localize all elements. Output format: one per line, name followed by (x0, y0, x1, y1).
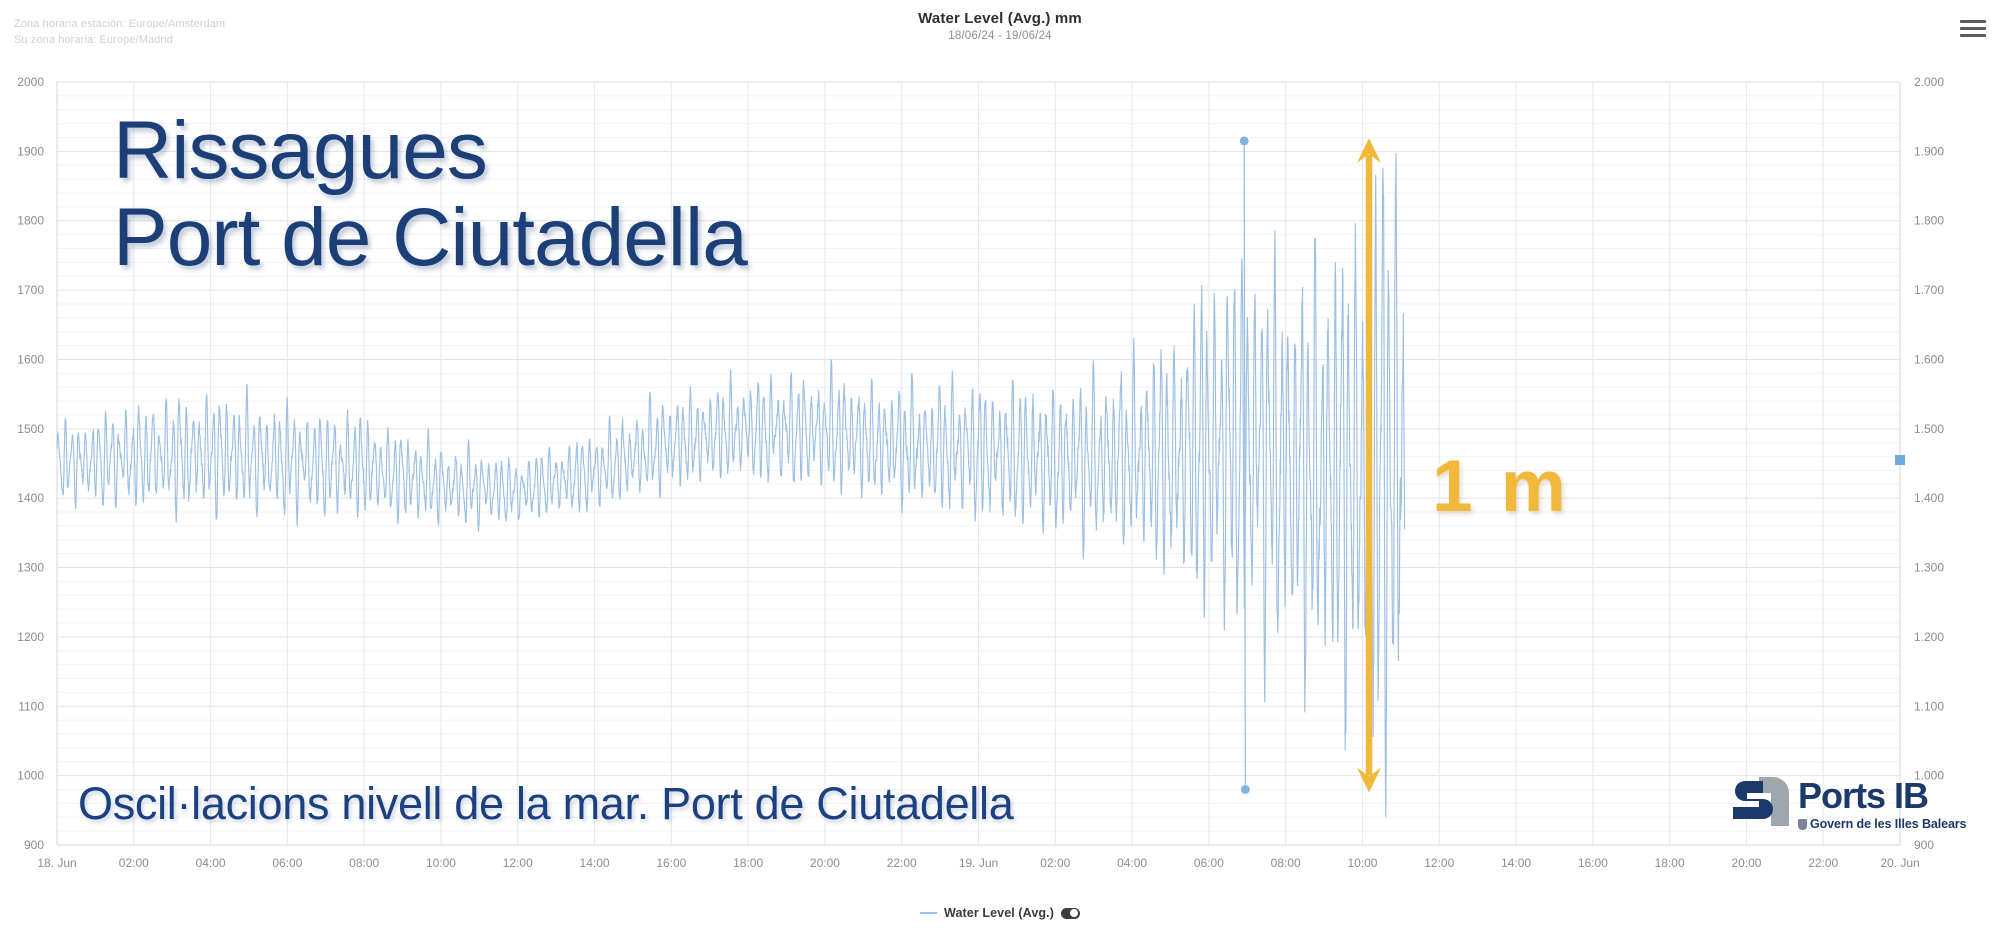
svg-text:16:00: 16:00 (656, 856, 686, 870)
svg-text:14:00: 14:00 (580, 856, 610, 870)
svg-text:1.600: 1.600 (1914, 352, 1944, 366)
svg-text:16:00: 16:00 (1578, 856, 1608, 870)
last-reading-marker[interactable] (1895, 455, 1905, 465)
svg-text:1.700: 1.700 (1914, 283, 1944, 297)
svg-text:10:00: 10:00 (426, 856, 456, 870)
svg-text:08:00: 08:00 (349, 856, 379, 870)
svg-text:06:00: 06:00 (272, 856, 302, 870)
svg-text:19. Jun: 19. Jun (959, 856, 998, 870)
legend-line-swatch (920, 912, 937, 914)
overlay-heading-line1: Rissagues (113, 105, 487, 196)
svg-text:22:00: 22:00 (887, 856, 917, 870)
chart-legend[interactable]: Water Level (Avg.) (0, 906, 2000, 920)
svg-text:1800: 1800 (17, 214, 44, 228)
ports-ib-logo-text: Ports IB Govern de les Illes Balears (1798, 777, 1966, 831)
ports-ib-logo: Ports IB Govern de les Illes Balears (1733, 777, 1966, 831)
ports-ib-name: Ports IB (1798, 778, 1966, 814)
svg-text:900: 900 (24, 838, 44, 852)
svg-text:18. Jun: 18. Jun (37, 856, 76, 870)
max-value-marker[interactable] (1240, 137, 1249, 146)
svg-text:1000: 1000 (17, 769, 44, 783)
svg-text:1.500: 1.500 (1914, 422, 1944, 436)
svg-text:18:00: 18:00 (1655, 856, 1685, 870)
svg-text:1100: 1100 (18, 699, 44, 713)
svg-text:20. Jun: 20. Jun (1880, 856, 1919, 870)
svg-text:1.400: 1.400 (1914, 491, 1944, 505)
svg-text:06:00: 06:00 (1194, 856, 1224, 870)
legend-series-label[interactable]: Water Level (Avg.) (944, 906, 1054, 920)
svg-text:20:00: 20:00 (1731, 856, 1761, 870)
legend-toggle-switch[interactable] (1061, 908, 1080, 919)
svg-text:02:00: 02:00 (119, 856, 149, 870)
svg-text:10:00: 10:00 (1347, 856, 1377, 870)
svg-text:1200: 1200 (17, 630, 44, 644)
svg-text:14:00: 14:00 (1501, 856, 1531, 870)
overlay-caption: Oscil·lacions nivell de la mar. Port de … (78, 778, 1013, 830)
svg-text:02:00: 02:00 (1040, 856, 1070, 870)
svg-text:900: 900 (1914, 838, 1934, 852)
ports-ib-logo-mark (1733, 777, 1789, 826)
svg-text:1.300: 1.300 (1914, 561, 1944, 575)
svg-text:1700: 1700 (17, 283, 44, 297)
range-annotation-label: 1 m (1432, 445, 1570, 528)
svg-text:20:00: 20:00 (810, 856, 840, 870)
min-value-marker[interactable] (1241, 785, 1250, 794)
svg-text:1400: 1400 (17, 491, 44, 505)
ports-ib-tagline: Govern de les Illes Balears (1810, 817, 1966, 831)
overlay-heading: RissaguesPort de Ciutadella (113, 108, 747, 282)
balearic-crest-icon (1798, 819, 1807, 830)
svg-text:2.000: 2.000 (1914, 75, 1944, 89)
svg-text:1500: 1500 (17, 422, 44, 436)
svg-text:04:00: 04:00 (1117, 856, 1147, 870)
svg-text:2000: 2000 (17, 75, 44, 89)
ports-ib-tagline-row: Govern de les Illes Balears (1798, 817, 1966, 831)
svg-text:1600: 1600 (17, 352, 44, 366)
svg-text:04:00: 04:00 (196, 856, 226, 870)
svg-text:12:00: 12:00 (503, 856, 533, 870)
svg-text:22:00: 22:00 (1808, 856, 1838, 870)
svg-text:1300: 1300 (17, 561, 44, 575)
svg-text:12:00: 12:00 (1424, 856, 1454, 870)
svg-text:1.100: 1.100 (1914, 699, 1944, 713)
svg-text:08:00: 08:00 (1271, 856, 1301, 870)
svg-text:1900: 1900 (17, 144, 44, 158)
svg-text:1.900: 1.900 (1914, 144, 1944, 158)
svg-text:18:00: 18:00 (733, 856, 763, 870)
overlay-heading-line2: Port de Ciutadella (113, 192, 747, 283)
svg-text:1.800: 1.800 (1914, 214, 1944, 228)
svg-text:1.200: 1.200 (1914, 630, 1944, 644)
